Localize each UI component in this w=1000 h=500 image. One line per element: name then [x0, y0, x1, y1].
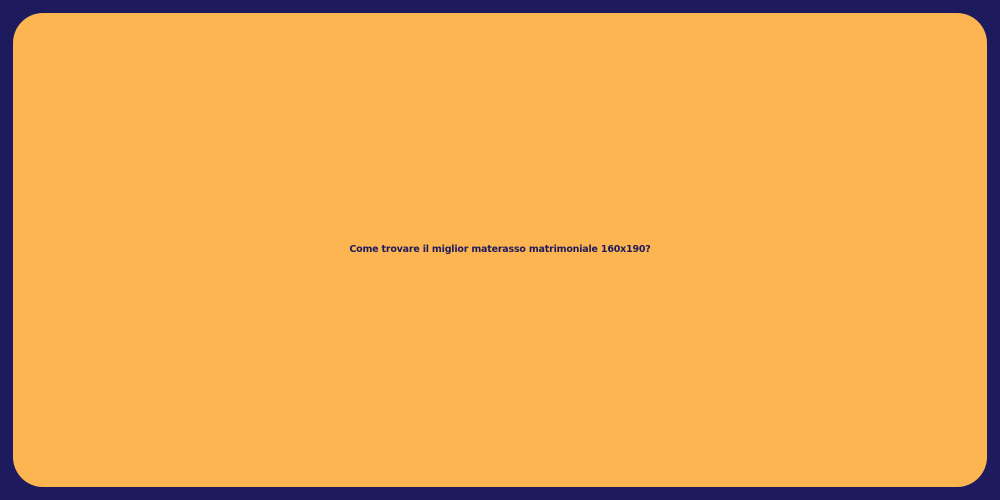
- banner-panel: Come trovare il miglior materasso matrim…: [13, 13, 987, 487]
- banner-frame: Come trovare il miglior materasso matrim…: [0, 0, 1000, 500]
- headline-text: Come trovare il miglior materasso matrim…: [13, 244, 987, 255]
